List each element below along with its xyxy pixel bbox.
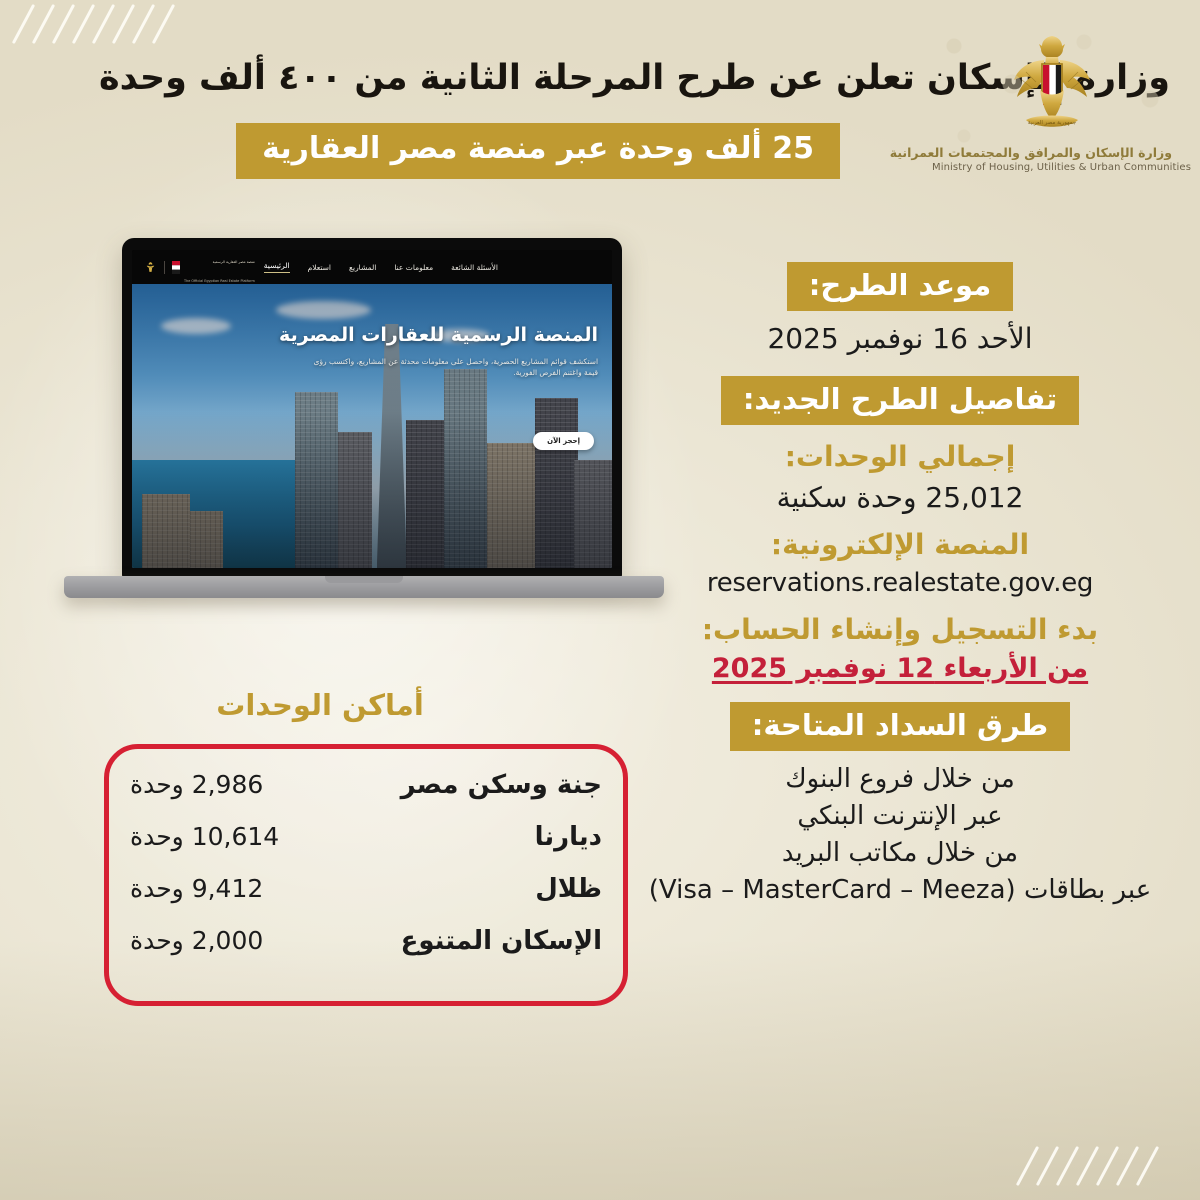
hero-subtitle: استكشف قوائم المشاريع الحصرية، واحصل على…: [298, 356, 598, 379]
nav-item-inquiry[interactable]: استعلام: [299, 263, 340, 272]
payment-method-banks: من خلال فروع البنوك: [630, 761, 1170, 798]
laptop-mockup: منصة مصر العقارية الرسمية The Official E…: [64, 238, 664, 598]
registration-label: بدء التسجيل وإنشاء الحساب:: [630, 612, 1170, 647]
unit-count: 9,412 وحدة: [130, 874, 263, 903]
laptop-screen: منصة مصر العقارية الرسمية The Official E…: [132, 250, 612, 568]
units-table: جنة وسكن مصر 2,986 وحدة ديارنا 10,614 وح…: [104, 770, 628, 978]
website-brand-en: The Official Egyptian Real Estate Platfo…: [184, 279, 255, 283]
unit-project-name: ظلال: [535, 874, 602, 904]
unit-project-name: الإسكان المتنوع: [401, 926, 602, 956]
unit-count: 10,614 وحدة: [130, 822, 279, 851]
book-now-button[interactable]: إحجز الآن: [533, 432, 594, 450]
nav-item-about[interactable]: معلومات عنا: [385, 263, 442, 272]
hero-text-block: المنصة الرسمية للعقارات المصرية استكشف ق…: [185, 324, 598, 379]
infographic-page: وزارة الإسكان تعلن عن طرح المرحلة الثاني…: [0, 0, 1200, 1200]
units-section-title: أماكن الوحدات: [0, 688, 640, 722]
nav-eagle-icon: [144, 261, 157, 274]
payment-method-cards: عبر بطاقات (Visa – MasterCard – Meeza): [630, 872, 1170, 909]
launch-date-value: الأحد 16 نوفمبر 2025: [630, 321, 1170, 357]
header: وزارة الإسكان تعلن عن طرح المرحلة الثاني…: [0, 0, 1200, 205]
svg-text:جمهورية مصر العربية: جمهورية مصر العربية: [1028, 120, 1076, 126]
unit-project-name: جنة وسكن مصر: [401, 770, 602, 800]
nav-item-home[interactable]: الرئيسية: [255, 261, 299, 273]
ministry-name-arabic: وزارة الإسكان والمرافق والمجتمعات العمرا…: [932, 145, 1172, 160]
hero-title: المنصة الرسمية للعقارات المصرية: [185, 324, 598, 347]
new-offer-band: تفاصيل الطرح الجديد:: [630, 376, 1170, 425]
platform-label: المنصة الإلكترونية:: [630, 527, 1170, 562]
payment-method-post: من خلال مكاتب البريد: [630, 835, 1170, 872]
unit-project-name: ديارنا: [535, 822, 602, 852]
ministry-logo: جمهورية مصر العربية وزارة الإسكان والمرا…: [932, 30, 1172, 173]
unit-count: 2,986 وحدة: [130, 770, 263, 799]
nav-item-faq[interactable]: الأسئلة الشائعة: [442, 263, 507, 272]
table-row: جنة وسكن مصر 2,986 وحدة: [104, 770, 628, 822]
launch-date-label: موعد الطرح:: [787, 262, 1013, 311]
payment-method-online: عبر الإنترنت البنكي: [630, 798, 1170, 835]
table-row: ظلال 9,412 وحدة: [104, 874, 628, 926]
new-offer-label: تفاصيل الطرح الجديد:: [721, 376, 1079, 425]
website-brand-text: منصة مصر العقارية الرسمية The Official E…: [184, 250, 255, 286]
diagonal-stripes-bottom-right-icon: [1026, 1144, 1176, 1194]
payment-methods-label: طرق السداد المتاحة:: [730, 702, 1070, 751]
website-hero: المنصة الرسمية للعقارات المصرية استكشف ق…: [132, 284, 612, 568]
nav-item-projects[interactable]: المشاريع: [340, 263, 385, 272]
total-units-label: إجمالي الوحدات:: [630, 439, 1170, 474]
platform-url[interactable]: reservations.realestate.gov.eg: [630, 568, 1170, 598]
unit-count: 2,000 وحدة: [130, 926, 263, 955]
laptop-lid: منصة مصر العقارية الرسمية The Official E…: [122, 238, 622, 578]
registration-date: من الأربعاء 12 نوفمبر 2025: [630, 653, 1170, 684]
table-row: ديارنا 10,614 وحدة: [104, 822, 628, 874]
website-navbar: منصة مصر العقارية الرسمية The Official E…: [132, 250, 612, 284]
egypt-eagle-emblem-icon: جمهورية مصر العربية: [1006, 30, 1098, 142]
website-logo: منصة مصر العقارية الرسمية The Official E…: [144, 250, 255, 286]
website-brand-ar: منصة مصر العقارية الرسمية: [213, 260, 255, 264]
ministry-name-english: Ministry of Housing, Utilities & Urban C…: [932, 162, 1172, 173]
details-column: موعد الطرح: الأحد 16 نوفمبر 2025 تفاصيل …: [630, 262, 1170, 909]
table-row: الإسكان المتنوع 2,000 وحدة: [104, 926, 628, 978]
launch-date-band: موعد الطرح:: [630, 262, 1170, 311]
laptop-notch: [325, 576, 403, 583]
total-units-value: 25,012 وحدة سكنية: [630, 480, 1170, 516]
laptop-base: [64, 576, 664, 598]
nav-divider: [164, 261, 165, 274]
payment-band: طرق السداد المتاحة:: [630, 702, 1170, 751]
sub-banner: 25 ألف وحدة عبر منصة مصر العقارية: [236, 123, 840, 179]
egypt-flag-icon: [172, 261, 180, 274]
